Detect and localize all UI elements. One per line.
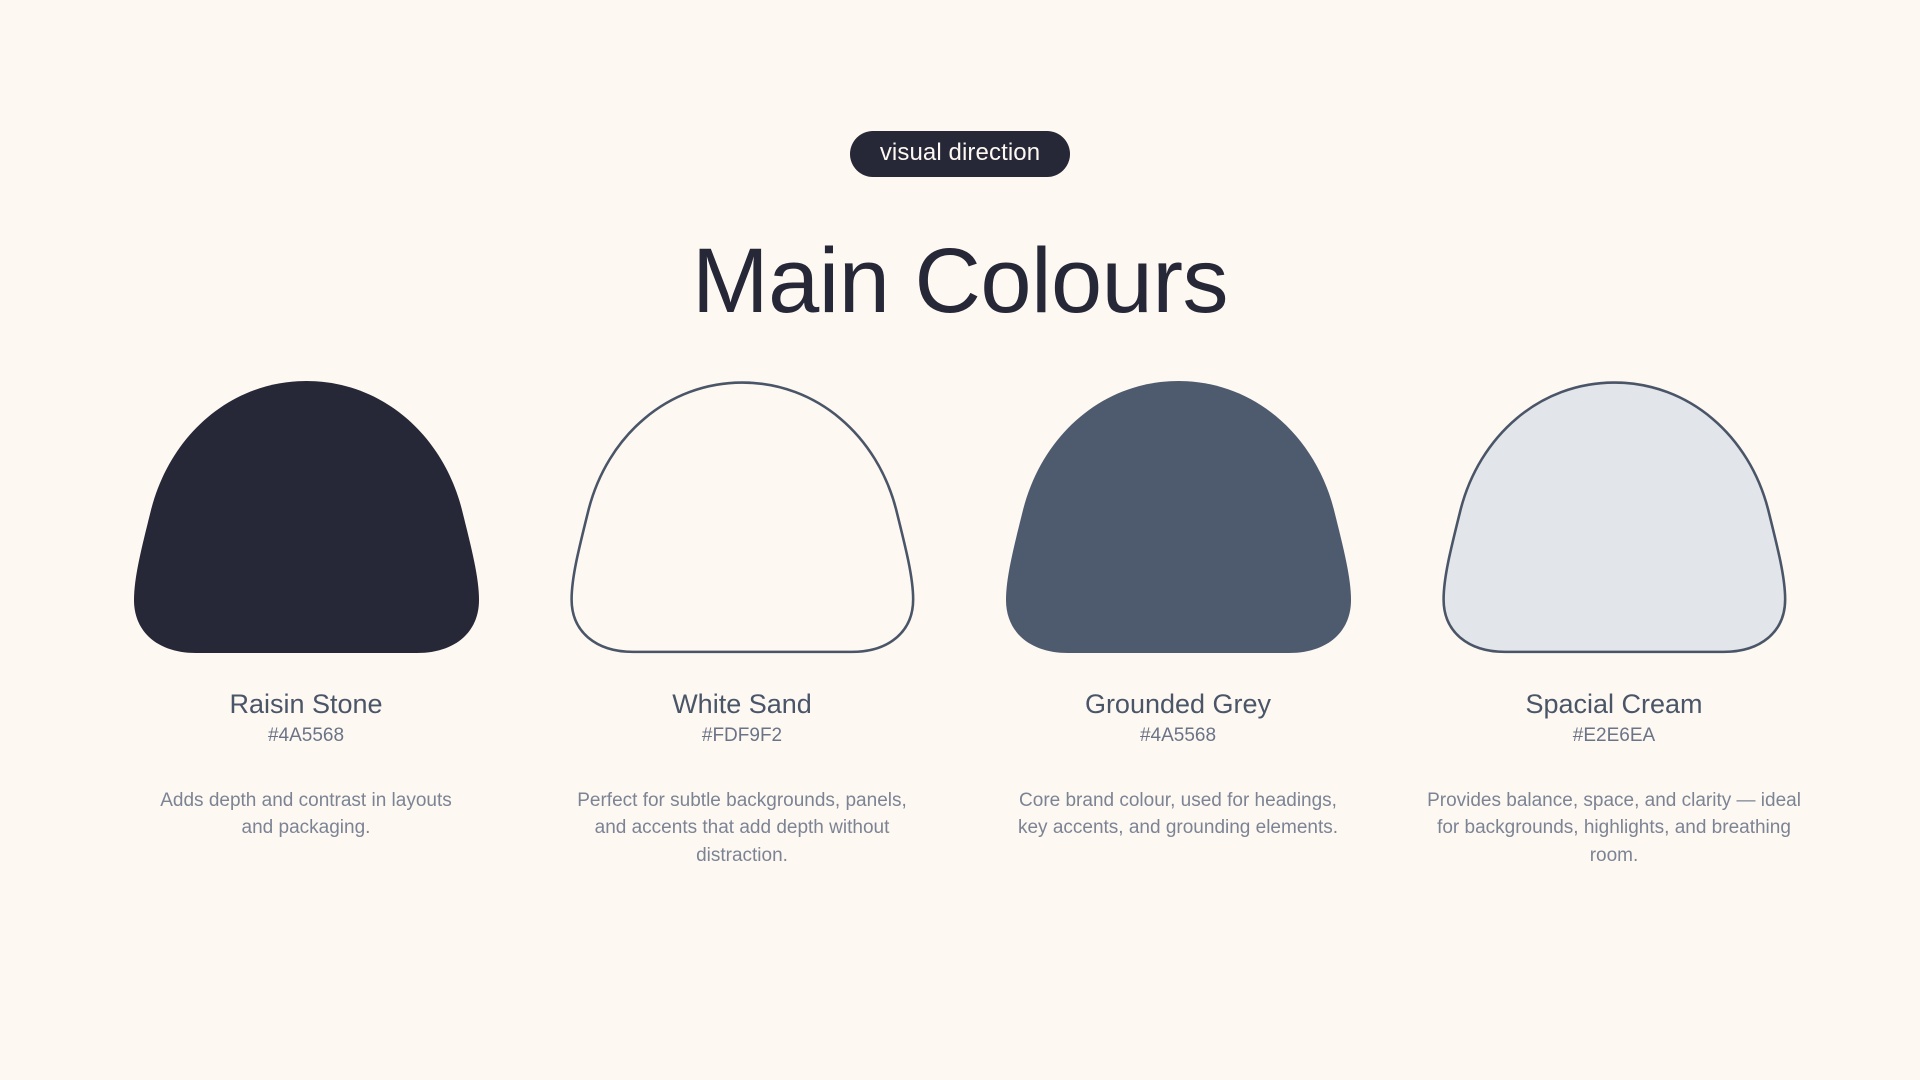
swatch-hex: #4A5568 <box>268 725 344 748</box>
colour-blob-shape <box>570 378 915 656</box>
colour-blob-shape <box>134 378 479 656</box>
colour-blob-shape <box>1442 378 1787 656</box>
swatch-description: Core brand colour, used for headings, ke… <box>1008 787 1348 842</box>
swatch-name: Raisin Stone <box>229 688 382 720</box>
swatch-hex: #FDF9F2 <box>702 725 782 748</box>
swatch-description: Perfect for subtle backgrounds, panels, … <box>564 787 920 870</box>
swatch-description: Adds depth and contrast in layouts and p… <box>156 787 456 842</box>
colour-blob-shape <box>1006 378 1351 656</box>
swatch-name: White Sand <box>672 688 812 720</box>
colour-swatch-grounded-grey[interactable]: Grounded Grey #4A5568 Core brand colour,… <box>960 378 1396 870</box>
swatch-grid: Raisin Stone #4A5568 Adds depth and cont… <box>0 378 1920 870</box>
swatch-hex: #E2E6EA <box>1573 725 1655 748</box>
colour-swatch-raisin-stone[interactable]: Raisin Stone #4A5568 Adds depth and cont… <box>88 378 524 870</box>
colour-swatch-white-sand[interactable]: White Sand #FDF9F2 Perfect for subtle ba… <box>524 378 960 870</box>
swatch-name: Spacial Cream <box>1525 688 1702 720</box>
swatch-hex: #4A5568 <box>1140 725 1216 748</box>
swatch-description: Provides balance, space, and clarity — i… <box>1424 787 1804 870</box>
swatch-name: Grounded Grey <box>1085 688 1271 720</box>
colour-swatch-spacial-cream[interactable]: Spacial Cream #E2E6EA Provides balance, … <box>1396 378 1832 870</box>
page-title: Main Colours <box>692 233 1228 330</box>
section-badge: visual direction <box>850 131 1070 177</box>
colour-palette-page: visual direction Main Colours Raisin Sto… <box>0 0 1920 1080</box>
